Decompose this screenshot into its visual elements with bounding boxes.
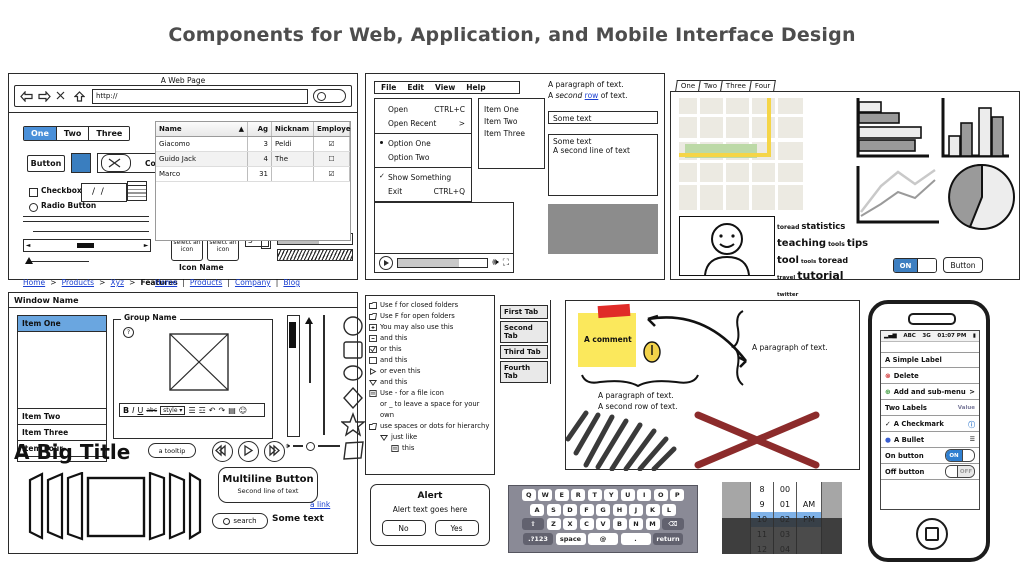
page-title: Components for Web, Application, and Mob… — [0, 24, 1024, 46]
divider — [323, 315, 325, 435]
tab-one[interactable]: One — [24, 127, 57, 140]
minus-box-icon — [369, 335, 377, 342]
key-f[interactable]: F — [580, 504, 594, 516]
phone-row-add-submenu[interactable]: ⊕Add and sub-menu> — [881, 384, 979, 400]
alert-message: Alert text goes here — [371, 505, 489, 514]
sticky-note[interactable]: A comment — [578, 313, 636, 367]
table-row[interactable]: Guido Jack 4 The ☐ — [156, 152, 350, 167]
url-input[interactable]: http:// — [92, 89, 308, 104]
volume-slider[interactable]: 🕩 — [285, 441, 340, 451]
window-title: Window Name — [9, 293, 357, 308]
list-item-two[interactable]: Item Two — [18, 409, 106, 425]
key-t[interactable]: T — [588, 489, 602, 501]
help-icon[interactable]: ? — [123, 327, 134, 338]
browser-chrome: A Web Page http:// — [9, 74, 357, 113]
tab-third[interactable]: Third Tab — [500, 345, 548, 359]
toggle-switch[interactable]: ON — [893, 258, 937, 273]
menu-item-option-two[interactable]: Option Two — [375, 150, 471, 164]
avatar — [679, 216, 775, 276]
tree-row[interactable]: Use f for closed folders — [369, 300, 491, 311]
tree-row[interactable]: You may also use this — [369, 322, 491, 333]
tag[interactable]: toread — [777, 224, 799, 231]
menu-item-open-recent[interactable]: Open Recent> — [375, 116, 471, 130]
multiline-button-line-1: Multiline Button — [219, 474, 317, 485]
signal-icon: ▂▄▆ — [884, 333, 897, 339]
menu-item-exit[interactable]: ExitCTRL+Q — [375, 184, 471, 198]
color-swatch[interactable] — [71, 153, 91, 173]
data-table: Name▲ Ag Nicknam Employe Giacomo 3 Peldi… — [155, 121, 351, 241]
list-item[interactable]: Item One — [484, 103, 544, 115]
diamond-shape — [344, 388, 362, 408]
search-icon — [223, 518, 230, 525]
alert-buttons: No Yes — [371, 520, 489, 536]
key-d[interactable]: D — [563, 504, 577, 516]
scroll-right-icon[interactable]: ► — [142, 242, 150, 249]
toggle-on-label: ON — [894, 259, 917, 272]
radio-button[interactable] — [29, 203, 38, 212]
key-z[interactable]: Z — [547, 518, 561, 530]
redo-icon[interactable]: ↷ — [218, 406, 225, 415]
pie-chart — [947, 162, 1017, 232]
some-text-label: Some text — [272, 514, 324, 524]
checkbox-empty-icon — [369, 357, 377, 364]
alert-dialog: Alert Alert text goes here No Yes — [370, 484, 490, 546]
nav-products[interactable]: Products — [190, 278, 222, 287]
table-header: Name▲ Ag Nicknam Employe — [156, 122, 350, 137]
combobox-x-icon — [101, 154, 131, 172]
image-placeholder — [548, 204, 658, 254]
check-icon: ✓ — [379, 172, 385, 180]
button[interactable]: Button — [943, 257, 983, 273]
triangle-down-icon — [369, 379, 377, 386]
hour-option[interactable]: 8 — [751, 482, 773, 497]
key-j[interactable]: J — [629, 504, 643, 516]
group-label: Group Name — [121, 313, 180, 322]
textarea[interactable]: Some text A second line of text — [548, 134, 658, 196]
tab-four[interactable]: Four — [750, 80, 777, 91]
keyboard-row-4: .?123 space @ . return — [513, 533, 693, 545]
checkbox-label: Checkbox — [41, 186, 82, 195]
key-c[interactable]: C — [580, 518, 594, 530]
tree-row[interactable]: Use F for open folders — [369, 311, 491, 322]
key-g[interactable]: G — [596, 504, 610, 516]
home-icon[interactable] — [74, 91, 87, 102]
tag[interactable]: tools — [801, 259, 816, 265]
virtual-keyboard: Q W E R T Y U I O P A S D F G H J K L ⇧ … — [508, 485, 698, 553]
triangle-right-icon — [369, 368, 377, 375]
speaker-grill — [908, 313, 956, 325]
row-value: Value — [958, 405, 975, 411]
minute-option[interactable]: 00 — [774, 482, 796, 497]
tree-row[interactable]: use spaces or dots for hierarchy — [369, 421, 491, 432]
volume-icon: 🕩 — [285, 441, 290, 451]
checkbox-checked-icon — [369, 346, 377, 353]
phone-row-two-labels[interactable]: Two LabelsValue — [881, 400, 979, 416]
progress-bar-indeterminate — [277, 249, 353, 261]
list-item-one[interactable]: Item One — [18, 316, 106, 332]
plus-box-icon — [369, 324, 377, 331]
horizontal-scrollbar[interactable]: ◄ ► — [23, 239, 151, 252]
checkbox[interactable] — [29, 188, 38, 197]
cell-name: Giacomo — [156, 137, 248, 151]
phone-row-bullet[interactable]: ●A Bullet☰ — [881, 432, 979, 448]
search-label: search — [233, 517, 256, 525]
table-row[interactable]: Giacomo 3 Peldi ☑ — [156, 137, 350, 152]
tag[interactable]: tips — [847, 238, 868, 249]
menu-file[interactable]: File — [381, 83, 396, 92]
key-e[interactable]: E — [555, 489, 569, 501]
keyboard-row-2: A S D F G H J K L — [513, 504, 693, 516]
scroll-thumb[interactable] — [77, 243, 94, 248]
nav-sep: | — [276, 278, 279, 287]
key-i[interactable]: I — [637, 489, 651, 501]
italic-icon[interactable]: I — [132, 406, 134, 415]
alert-title: Alert — [371, 491, 489, 501]
key-b[interactable]: B — [613, 518, 627, 530]
no-button[interactable]: No — [382, 520, 426, 536]
forward-arrow-icon[interactable] — [38, 91, 51, 102]
hour-option[interactable]: 9 — [751, 497, 773, 512]
horizontal-bar-chart — [853, 96, 931, 162]
image-placeholder-icon — [169, 333, 229, 391]
play-icon[interactable] — [238, 441, 259, 462]
tree-row[interactable]: this — [369, 443, 491, 454]
button[interactable]: Button — [27, 155, 65, 172]
phone-list: A Simple Label ⊗Delete ⊕Add and sub-menu… — [881, 342, 979, 480]
image-icon[interactable]: ▤ — [228, 406, 236, 415]
search-icon — [317, 92, 326, 101]
red-x-mark — [694, 411, 820, 469]
slider-handle[interactable] — [25, 257, 33, 264]
inline-link[interactable]: row — [585, 91, 599, 100]
tag[interactable]: statistics — [801, 222, 845, 232]
shapes-column — [341, 315, 365, 475]
browser-toolbar: http:// — [14, 85, 352, 107]
strikethrough-icon[interactable]: abc — [146, 407, 157, 414]
browser-window-title: A Web Page — [9, 76, 357, 85]
folder-open-icon — [369, 313, 377, 320]
bullet-icon: ● — [885, 436, 891, 444]
square-shape — [344, 342, 362, 358]
toggle-knob — [917, 259, 936, 272]
ol-icon[interactable]: ☲ — [199, 406, 206, 415]
dot-key[interactable]: . — [621, 533, 651, 545]
cell-age: 4 — [248, 152, 272, 166]
menu-item-option-one[interactable]: Option One — [375, 136, 471, 150]
meridiem-option[interactable] — [797, 482, 821, 497]
parallelogram-shape — [344, 442, 363, 459]
toggle-off[interactable]: OFF — [945, 465, 975, 478]
cell-nickname — [272, 167, 314, 181]
menu-view[interactable]: View — [435, 83, 455, 92]
tag[interactable]: tool — [777, 255, 799, 266]
seek-bar[interactable] — [397, 258, 488, 268]
reorder-icon[interactable]: ☰ — [970, 436, 975, 443]
backspace-icon[interactable]: ⌫ — [662, 518, 684, 530]
nav-sep: | — [227, 278, 230, 287]
forward-icon[interactable] — [264, 441, 285, 462]
sticky-note-text: A comment — [584, 335, 632, 344]
key-v[interactable]: V — [596, 518, 610, 530]
play-icon[interactable] — [379, 256, 393, 270]
list-item-three[interactable]: Item Three — [18, 425, 106, 441]
key-p[interactable]: P — [670, 489, 684, 501]
curly-brace-icon — [731, 309, 749, 389]
column-name[interactable]: Name▲ — [156, 122, 248, 136]
link[interactable]: a link — [310, 500, 330, 509]
date-field[interactable]: / / — [81, 183, 127, 202]
nav-sep: | — [182, 278, 185, 287]
phone-screen: ▂▄▆ ABC 3G 01:07 PM ▮ A Simple Label ⊗De… — [880, 330, 980, 510]
user-avatar-icon — [680, 217, 774, 275]
textarea-line-1: Some text — [553, 137, 653, 146]
nav-company[interactable]: Company — [235, 278, 271, 287]
tree-list: Use f for closed folders Use F for open … — [366, 296, 494, 458]
nav-blog[interactable]: Blog — [283, 278, 300, 287]
keyboard-row-3: ⇧ Z X C V B N M ⌫ — [513, 518, 693, 530]
menu-item-show-something[interactable]: ✓Show Something — [375, 170, 471, 184]
key-u[interactable]: U — [621, 489, 635, 501]
tree-row[interactable]: and this — [369, 355, 491, 366]
vertical-slider-track[interactable] — [309, 321, 311, 383]
tree-row[interactable]: just like — [369, 432, 491, 443]
column-nickname[interactable]: Nicknam — [272, 122, 314, 136]
tree-row[interactable]: or this — [369, 344, 491, 355]
breadcrumb-home[interactable]: Home — [23, 278, 45, 287]
key-a[interactable]: A — [530, 504, 544, 516]
table-row[interactable]: Marco 31 ☑ — [156, 167, 350, 182]
browser-content: One Two Three Button ComboBox Checkbox R… — [9, 113, 357, 280]
date-separators: / / — [92, 187, 104, 198]
text-input[interactable]: Some text — [548, 111, 658, 124]
underline-icon[interactable]: U — [137, 406, 143, 415]
search-box[interactable]: search — [212, 513, 268, 529]
tab-three[interactable]: Three — [721, 80, 753, 91]
key-k[interactable]: K — [646, 504, 660, 516]
ellipse-shape — [344, 366, 362, 380]
tree-row[interactable]: and this — [369, 377, 491, 388]
tab-strip: One Two Three — [23, 126, 130, 141]
home-button-icon[interactable] — [916, 518, 948, 550]
ul-icon[interactable]: ☰ — [188, 406, 195, 415]
tab-strip-right: One Two Three Four — [676, 80, 775, 91]
scroll-left-icon[interactable]: ◄ — [24, 242, 32, 249]
textarea-line-2: A second line of text — [553, 146, 653, 155]
key-y[interactable]: Y — [604, 489, 618, 501]
cell-employed: ☑ — [314, 137, 350, 151]
curved-arrow-icon — [636, 309, 796, 371]
cell-employed: ☑ — [314, 167, 350, 181]
big-title: A Big Title — [14, 440, 130, 464]
cell-name: Guido Jack — [156, 152, 248, 166]
cell-age: 3 — [248, 137, 272, 151]
nav-home[interactable]: Home — [155, 278, 177, 287]
cell-nickname: Peldi — [272, 137, 314, 151]
cell-nickname: The — [272, 152, 314, 166]
scribble-mark — [566, 409, 678, 471]
menu-separator — [375, 167, 471, 168]
fullscreen-icon[interactable]: ⛶ — [503, 258, 509, 268]
cell-name: Marco — [156, 167, 248, 181]
key-r[interactable]: R — [571, 489, 585, 501]
tag[interactable]: tutorial — [797, 269, 843, 282]
menu-bar: File Edit View Help — [374, 81, 520, 94]
column-employed[interactable]: Employe — [314, 122, 350, 136]
cell-age: 31 — [248, 167, 272, 181]
wireframe-poster: Components for Web, Application, and Mob… — [0, 0, 1024, 578]
tab-second[interactable]: Second Tab — [500, 321, 548, 343]
submenu-chevron-icon: > — [459, 119, 465, 128]
menu-item-open[interactable]: OpenCTRL+C — [375, 102, 471, 116]
shift-icon[interactable]: ⇧ — [522, 518, 544, 530]
rich-text-toolbar: B I U abc style ▾ ☰ ☲ ↶ ↷ ▤ ☺ — [119, 403, 265, 417]
minute-option[interactable]: 01 — [774, 497, 796, 512]
phone-mockup: ▂▄▆ ABC 3G 01:07 PM ▮ A Simple Label ⊗De… — [868, 300, 990, 562]
map-widget[interactable] — [679, 98, 803, 210]
phone-row-off-button[interactable]: Off button OFF — [881, 464, 979, 480]
key-m[interactable]: M — [646, 518, 660, 530]
list-empty-space — [18, 332, 106, 409]
breadcrumb-sep: > — [50, 278, 56, 287]
tab-three[interactable]: Three — [89, 127, 129, 140]
coverflow-widget[interactable] — [22, 472, 202, 542]
numbers-key[interactable]: .?123 — [523, 533, 553, 545]
slider-knob[interactable] — [306, 442, 315, 451]
paragraph-text: A paragraph of text. A second row of tex… — [548, 80, 628, 102]
key-w[interactable]: W — [538, 489, 552, 501]
carrier-label: ABC — [903, 333, 916, 339]
key-s[interactable]: S — [547, 504, 561, 516]
tag[interactable]: twitter — [777, 292, 798, 298]
style-dropdown[interactable]: style ▾ — [160, 406, 185, 415]
menu-help[interactable]: Help — [466, 83, 485, 92]
tag[interactable]: travel — [777, 275, 795, 281]
tag[interactable]: tools — [828, 241, 845, 248]
search-input[interactable] — [313, 89, 346, 103]
phone-row-simple-label[interactable]: A Simple Label — [881, 352, 979, 368]
key-q[interactable]: Q — [522, 489, 536, 501]
key-o[interactable]: O — [654, 489, 668, 501]
curly-brace-horizontal-icon — [580, 373, 702, 389]
video-player: 🕪 ⛶ — [374, 202, 514, 273]
tab-divider — [550, 300, 551, 384]
volume-icon[interactable]: 🕪 — [492, 258, 498, 268]
map-and-charts-panel: toreadstatistics teachingtoolstips toolt… — [670, 91, 1020, 280]
phone-row-delete[interactable]: ⊗Delete — [881, 368, 979, 384]
phone-row-on-button[interactable]: On button ON — [881, 448, 979, 464]
picker-overlay — [722, 518, 842, 554]
star-shape — [342, 414, 364, 435]
tab-first[interactable]: First Tab — [500, 305, 548, 319]
calendar-icon[interactable] — [127, 181, 147, 201]
key-x[interactable]: X — [563, 518, 577, 530]
tab-two[interactable]: Two — [57, 127, 89, 140]
add-icon: ⊕ — [885, 388, 891, 396]
radio-dot-icon — [380, 141, 383, 144]
tree-row[interactable]: Use - for a file icon — [369, 388, 491, 399]
menu-mockup-panel: File Edit View Help OpenCTRL+C Open Rece… — [365, 73, 665, 280]
key-l[interactable]: L — [662, 504, 676, 516]
breadcrumb-xyz[interactable]: Xyz — [111, 278, 125, 287]
dropdown-menu: OpenCTRL+C Open Recent> Option One Optio… — [374, 98, 472, 202]
cell-employed: ☐ — [314, 152, 350, 166]
annotation-panel: A comment A paragraph of text. A paragra… — [565, 300, 860, 470]
multiline-button[interactable]: Multiline Button Second line of text — [218, 467, 318, 503]
yes-button[interactable]: Yes — [435, 520, 479, 536]
breadcrumb-sep: > — [129, 278, 135, 287]
battery-icon: ▮ — [973, 333, 976, 339]
rewind-icon[interactable] — [212, 441, 233, 462]
paragraph-line-2: A second row of text. — [548, 91, 628, 102]
info-icon[interactable]: ⓘ — [968, 419, 975, 429]
vertical-tab-strip: First Tab Second Tab Third Tab Fourth Ta… — [500, 305, 548, 385]
column-age[interactable]: Ag — [248, 122, 272, 136]
scroll-thumb[interactable] — [289, 322, 296, 348]
tree-row[interactable]: or even this — [369, 366, 491, 377]
player-controls: 🕪 ⛶ — [375, 253, 513, 272]
vertical-scrollbar[interactable] — [287, 315, 300, 437]
list-box: Item One Item Two Item Three — [478, 98, 545, 169]
back-arrow-icon[interactable] — [20, 91, 33, 102]
file-icon — [391, 445, 399, 452]
meridiem-option[interactable]: AM — [797, 497, 821, 512]
tag[interactable]: teaching — [777, 238, 826, 249]
check-icon: ✓ — [885, 420, 891, 428]
keyboard-row-1: Q W E R T Y U I O P — [513, 489, 693, 501]
clock-label: 01:07 PM — [937, 333, 966, 339]
phone-row-checkmark[interactable]: ✓A Checkmarkⓘ — [881, 416, 979, 432]
key-n[interactable]: N — [629, 518, 643, 530]
tooltip: a tooltip — [148, 443, 196, 458]
tab-fourth[interactable]: Fourth Tab — [500, 361, 548, 383]
line-chart — [853, 164, 943, 230]
browser-mockup-panel: A Web Page http:// One Two Three Button … — [8, 73, 358, 280]
breadcrumb-sep: > — [99, 278, 105, 287]
chevron-right-icon: > — [969, 388, 975, 396]
undo-icon[interactable]: ↶ — [209, 406, 216, 415]
key-h[interactable]: H — [613, 504, 627, 516]
radio-label: Radio Button — [41, 201, 96, 210]
triangle-down-icon — [380, 434, 388, 441]
at-key[interactable]: @ — [588, 533, 618, 545]
folder-closed-icon — [369, 302, 377, 309]
space-key[interactable]: space — [556, 533, 586, 545]
list-item[interactable]: Item Two — [484, 115, 544, 127]
menu-edit[interactable]: Edit — [407, 83, 424, 92]
tree-row[interactable]: and this — [369, 333, 491, 344]
network-label: 3G — [922, 333, 930, 339]
brace-line-1: A paragraph of text. — [598, 391, 677, 402]
time-picker: 8 9 10 11 12 00 01 02 03 04 AM PM — [722, 482, 842, 554]
circle-shape — [344, 317, 362, 335]
delete-icon: ⊗ — [885, 372, 891, 380]
file-icon — [369, 390, 377, 397]
close-icon[interactable] — [56, 91, 69, 102]
breadcrumb-products[interactable]: Products — [62, 278, 94, 287]
tree-row[interactable]: or _ to leave a space for your own — [369, 399, 491, 421]
bold-icon[interactable]: B — [123, 406, 129, 415]
toggle-on[interactable]: ON — [945, 449, 975, 462]
list-item[interactable]: Item Three — [484, 127, 544, 139]
vertical-bar-chart — [939, 96, 1011, 162]
emoji-icon[interactable]: ☺ — [239, 406, 247, 415]
status-bar: ▂▄▆ ABC 3G 01:07 PM ▮ — [881, 331, 979, 342]
paragraph-line-1: A paragraph of text. — [548, 80, 628, 91]
tag[interactable]: toread — [818, 256, 848, 265]
vertical-slider-handle[interactable] — [305, 317, 313, 324]
multiline-button-line-2: Second line of text — [219, 487, 317, 495]
return-key[interactable]: return — [653, 533, 683, 545]
